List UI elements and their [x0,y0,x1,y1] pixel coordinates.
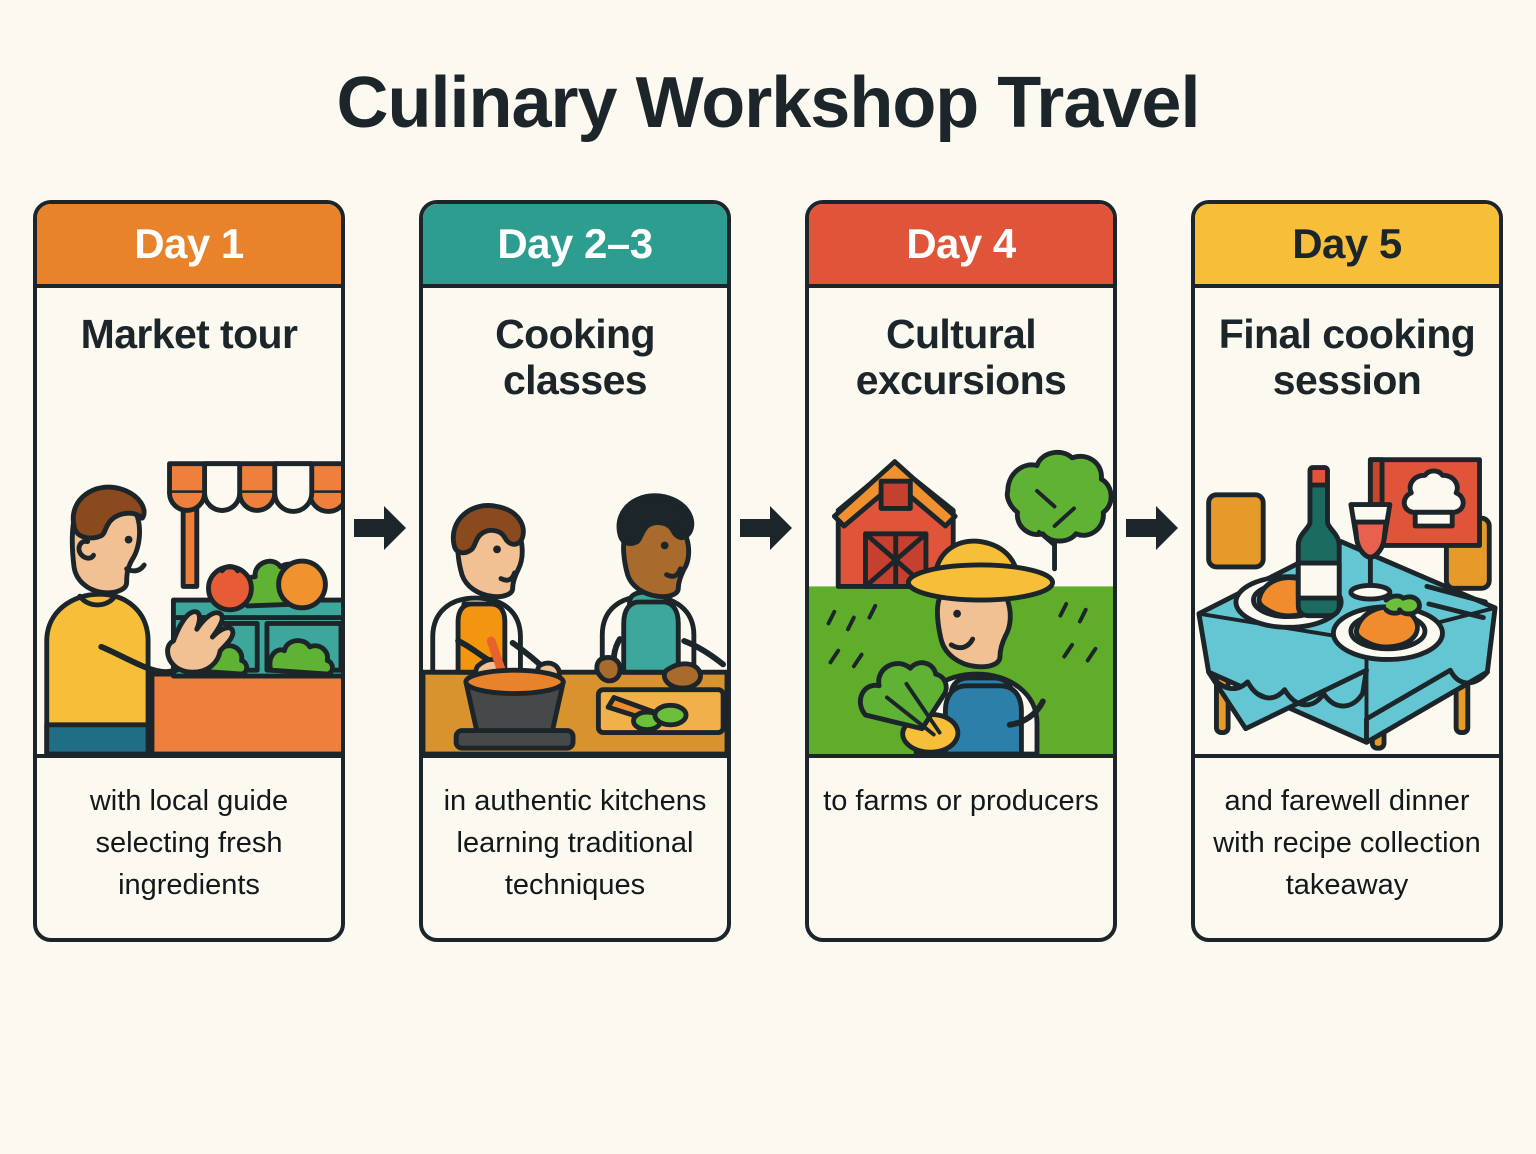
arrow-right-icon [354,506,406,550]
card-header-day-4: Day 4 [809,204,1113,288]
day-label-2: Day 2–3 [497,220,652,268]
infographic-page: Culinary Workshop Travel Day 1 Market to… [0,0,1536,1154]
card-header-day-5: Day 5 [1195,204,1499,288]
day-label-4: Day 5 [1292,220,1402,268]
card-title-4: Final cooking session [1195,288,1499,428]
card-caption-3: to farms or producers [809,758,1113,938]
step-card-day-5[interactable]: Day 5 Final cooking session [1191,200,1503,942]
card-header-day-2-3: Day 2–3 [423,204,727,288]
steps-row: Day 1 Market tour [33,200,1503,942]
arrow-right-icon [740,506,792,550]
connector-1 [345,200,419,942]
two-cooks-kitchen-illustration [423,428,727,758]
day-label-1: Day 1 [134,220,244,268]
card-caption-2: in authentic kitchens learning tradition… [423,758,727,938]
page-title: Culinary Workshop Travel [0,62,1536,144]
card-title-3: Cultural excursions [809,288,1113,428]
step-card-day-2-3[interactable]: Day 2–3 Cooking classes [419,200,731,942]
card-header-day-1: Day 1 [37,204,341,288]
farm-barn-farmer-illustration [809,428,1113,758]
farewell-dinner-table-illustration [1195,428,1499,758]
arrow-right-icon [1126,506,1178,550]
day-label-3: Day 4 [906,220,1016,268]
market-stall-shopper-illustration [37,428,341,758]
connector-3 [1117,200,1191,942]
card-caption-4: and farewell dinner with recipe collecti… [1195,758,1499,938]
card-title-1: Market tour [37,288,341,428]
card-title-2: Cooking classes [423,288,727,428]
connector-2 [731,200,805,942]
step-card-day-1[interactable]: Day 1 Market tour [33,200,345,942]
card-caption-1: with local guide selecting fresh ingredi… [37,758,341,938]
step-card-day-4[interactable]: Day 4 Cultural excursions [805,200,1117,942]
